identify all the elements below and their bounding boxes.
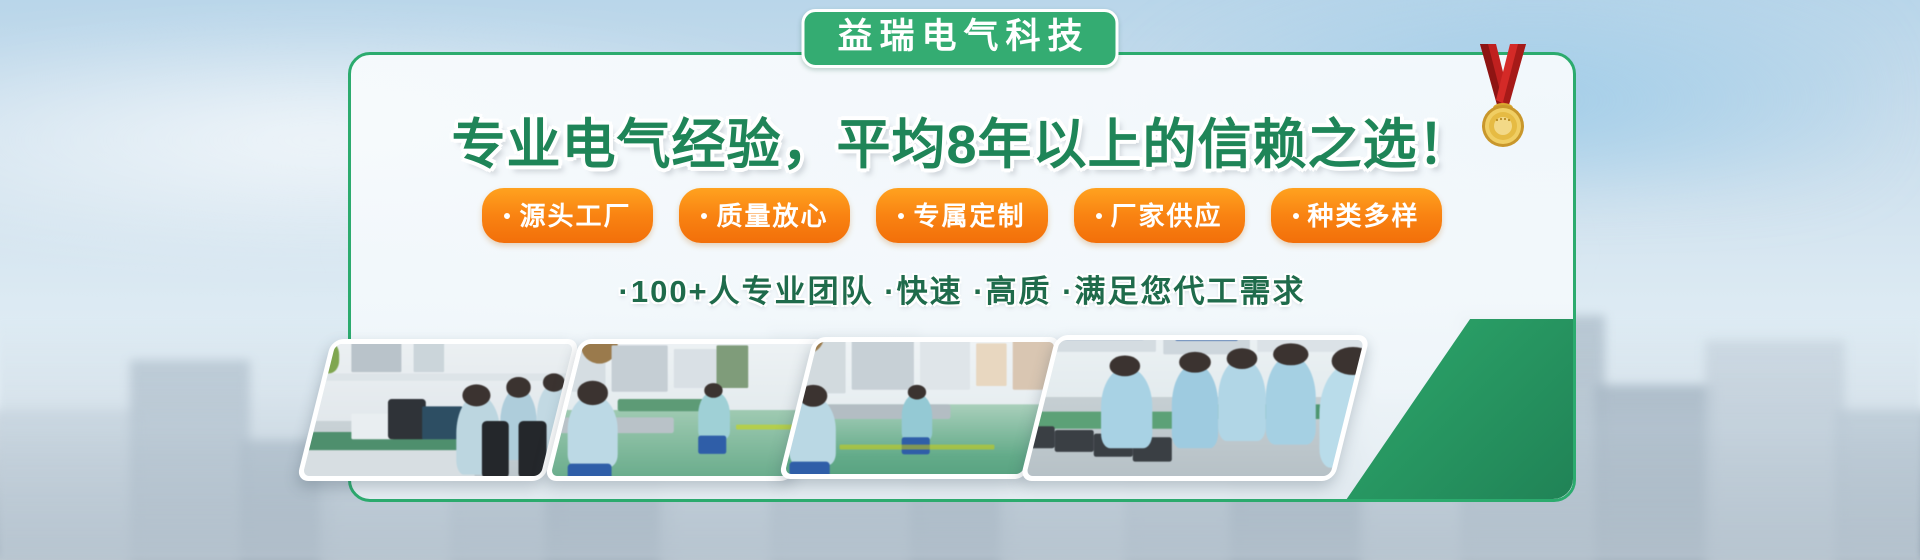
sub-feature-text: ·100+人专业团队 ·快速 ·高质 ·满足您代工需求 bbox=[619, 266, 1306, 311]
feature-tag: 厂家供应 bbox=[1074, 188, 1245, 243]
feature-tag: 源头工厂 bbox=[482, 188, 653, 243]
feature-tag-label: 源头工厂 bbox=[519, 196, 631, 233]
bullet-dot-icon bbox=[701, 213, 707, 219]
factory-photo bbox=[1020, 335, 1370, 481]
feature-tag: 种类多样 bbox=[1271, 188, 1442, 243]
factory-photo-strip bbox=[300, 335, 1560, 560]
factory-photo bbox=[296, 339, 579, 481]
brand-title-text: 益瑞电气科技 bbox=[830, 19, 1089, 56]
brand-title-badge: 益瑞电气科技 bbox=[801, 9, 1118, 68]
headline: 专业电气经验，平均8年以上的信赖之选！ bbox=[348, 100, 1576, 179]
bullet-dot-icon bbox=[898, 213, 904, 219]
bullet-dot-icon bbox=[504, 213, 510, 219]
factory-photo bbox=[778, 337, 1061, 479]
feature-tag: 专属定制 bbox=[876, 188, 1047, 243]
bullet-dot-icon bbox=[1293, 213, 1299, 219]
feature-tag: 质量放心 bbox=[679, 188, 850, 243]
feature-tag-list: 源头工厂 质量放心 专属定制 厂家供应 种类多样 bbox=[348, 188, 1576, 243]
feature-tag-label: 质量放心 bbox=[716, 196, 828, 233]
promo-banner: 益瑞电气科技 专业电气经验，平均8年以上的信赖之选！ 源头工厂 质量放心 专属定… bbox=[0, 0, 1920, 560]
bullet-dot-icon bbox=[1096, 213, 1102, 219]
feature-tag-label: 厂家供应 bbox=[1111, 196, 1223, 233]
headline-text: 专业电气经验，平均8年以上的信赖之选！ bbox=[451, 115, 1472, 175]
feature-tag-label: 种类多样 bbox=[1308, 196, 1420, 233]
gold-medal-icon bbox=[1470, 44, 1536, 149]
feature-tag-label: 专属定制 bbox=[913, 196, 1025, 233]
sub-feature-line: ·100+人专业团队 ·快速 ·高质 ·满足您代工需求 bbox=[348, 266, 1576, 311]
